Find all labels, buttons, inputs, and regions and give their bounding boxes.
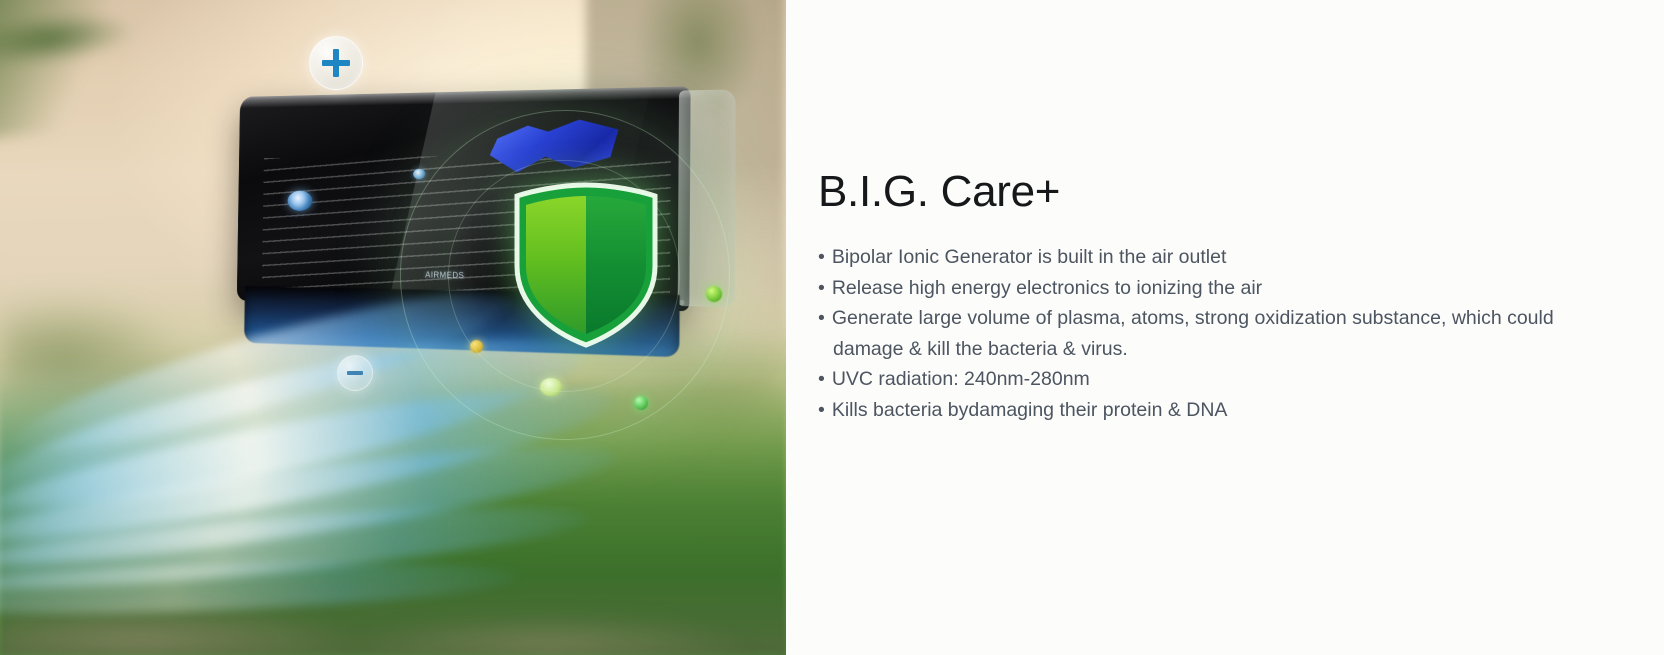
bacteria-particle xyxy=(470,340,483,353)
info-panel: B.I.G. Care+ Bipolar Ionic Generator is … xyxy=(786,0,1664,655)
scene-grass xyxy=(0,380,786,655)
feature-panel: AIRMEDS xyxy=(0,0,1664,655)
bacteria-particle xyxy=(634,396,648,410)
list-item: Release high energy electronics to ioniz… xyxy=(818,273,1578,304)
palm-frond xyxy=(0,0,207,140)
feature-list: Bipolar Ionic Generator is built in the … xyxy=(818,242,1578,425)
bacteria-particle xyxy=(706,286,722,302)
list-item: UVC radiation: 240nm-280nm xyxy=(818,364,1578,395)
list-item: Generate large volume of plasma, atoms, … xyxy=(818,303,1578,364)
ac-sensor-icon xyxy=(413,169,425,179)
negative-ion-icon xyxy=(337,355,373,391)
product-image: AIRMEDS xyxy=(0,0,786,655)
ac-side-panel xyxy=(678,89,736,307)
ac-display-led xyxy=(288,190,313,210)
plus-icon xyxy=(322,49,350,77)
shield-icon xyxy=(512,182,660,348)
list-item: Kills bacteria bydamaging their protein … xyxy=(818,395,1578,426)
ac-brand-logo: AIRMEDS xyxy=(425,270,464,280)
bacteria-particle xyxy=(540,378,562,396)
positive-ion-icon xyxy=(309,36,363,90)
page-title: B.I.G. Care+ xyxy=(818,168,1664,216)
minus-icon xyxy=(347,371,363,375)
list-item: Bipolar Ionic Generator is built in the … xyxy=(818,242,1578,273)
